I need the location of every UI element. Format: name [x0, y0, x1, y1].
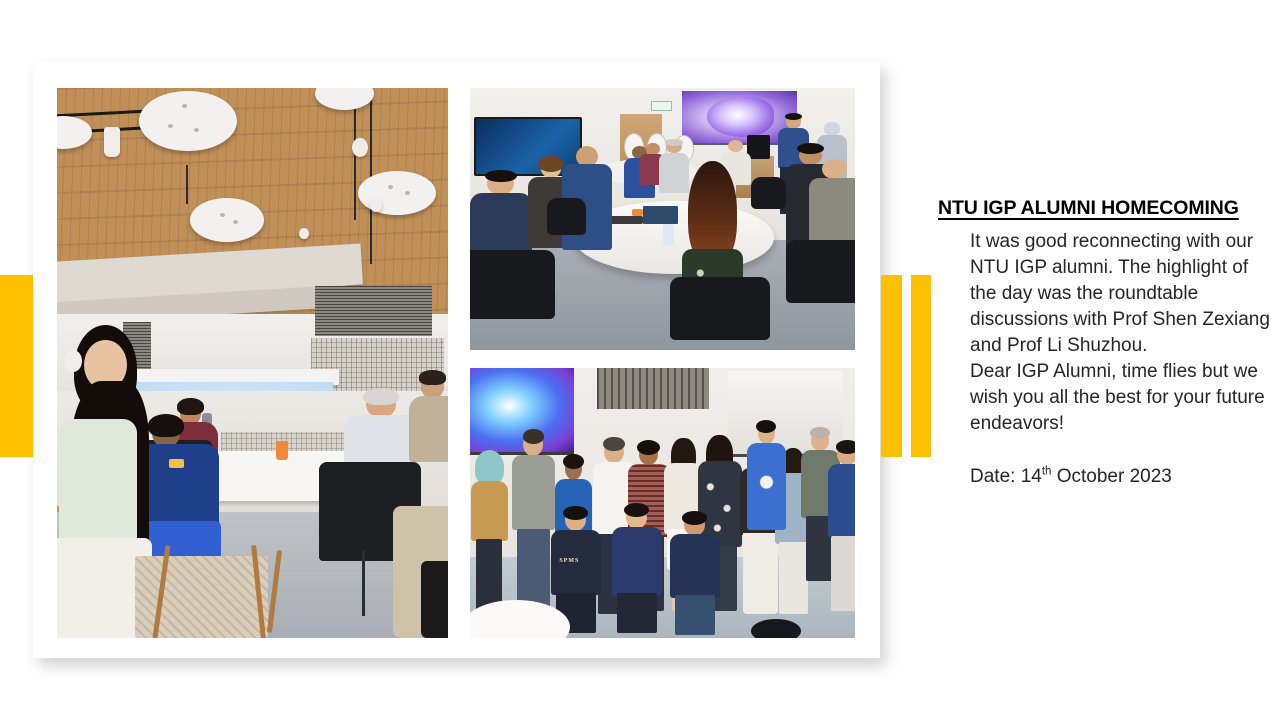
middle-accent-bar — [881, 275, 902, 457]
event-date: Date: 14th October 2023 — [970, 464, 1276, 490]
date-label: Date: — [970, 466, 1021, 487]
slide-canvas: SPMS — [0, 0, 1280, 720]
date-rest: October 2023 — [1051, 466, 1171, 487]
group-photo: SPMS — [470, 368, 855, 638]
photo-collage-card: SPMS — [33, 62, 880, 658]
roundtable-discussion-photo — [470, 88, 855, 350]
paragraph-2: Dear IGP Alumni, time flies but we wish … — [970, 359, 1276, 437]
seminar-room-photo — [57, 88, 448, 638]
left-accent-bar — [0, 275, 33, 457]
body-text: It was good reconnecting with our NTU IG… — [970, 229, 1276, 437]
right-accent-bar — [911, 275, 931, 457]
text-column: NTU IGP ALUMNI HOMECOMING It was good re… — [938, 196, 1276, 490]
paragraph-1: It was good reconnecting with our NTU IG… — [970, 229, 1276, 359]
date-day: 14 — [1021, 466, 1042, 487]
page-title: NTU IGP ALUMNI HOMECOMING — [938, 196, 1276, 220]
date-ordinal: th — [1042, 465, 1052, 477]
spms-shirt-text: SPMS — [559, 558, 579, 564]
